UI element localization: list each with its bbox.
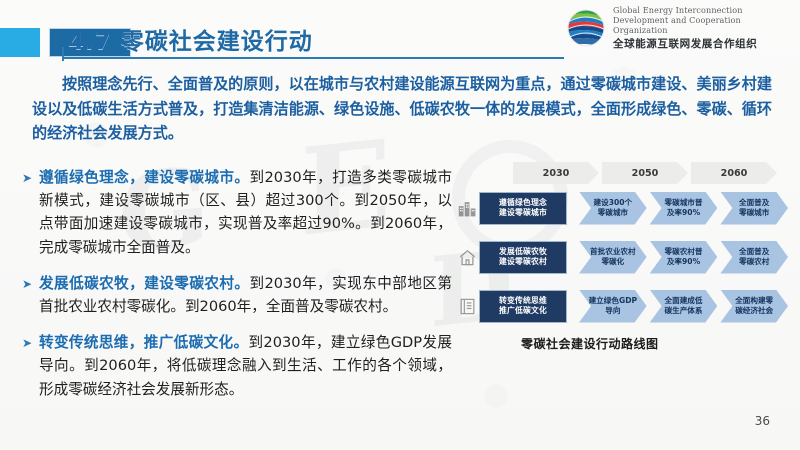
roadmap-row-label: 发展低碳农牧 建设零碳农村 — [479, 241, 567, 274]
roadmap-step-line1: 建设300个 — [594, 198, 633, 208]
roadmap-step: 全面建成低 碳生产体系 — [650, 290, 718, 323]
roadmap-step-line1: 零碳城市普 — [665, 198, 703, 208]
roadmap-step-line2: 碳生产体系 — [665, 306, 703, 316]
roadmap-step: 建立绿色GDP 导向 — [579, 290, 647, 323]
roadmap-row-label: 转变传统思维 推广低碳文化 — [479, 290, 567, 323]
roadmap-step: 建设300个 零碳城市 — [579, 192, 647, 225]
list-item: ➤ 遵循绿色理念，建设零碳城市。到2030年，打造多类零碳城市新模式，建设零碳城… — [22, 166, 452, 259]
roadmap-row-label-line1: 转变传统思维 — [499, 296, 547, 307]
roadmap-step-line1: 建立绿色GDP — [589, 296, 637, 306]
year-chevron: 2060 — [691, 162, 777, 184]
roadmap-step-line1: 全面普及 — [739, 198, 769, 208]
page-number: 36 — [755, 414, 770, 428]
roadmap-step: 全面构建零 碳经济社会 — [720, 290, 788, 323]
intro-paragraph: 按照理念先行、全面普及的原则，以在城市与农村建设能源互联网为重点，通过零碳城市建… — [32, 72, 772, 146]
book-icon — [455, 293, 479, 319]
bullet-arrow-icon: ➤ — [22, 166, 39, 259]
house-icon — [455, 244, 479, 270]
roadmap-step: 全面普及 零碳城市 — [720, 192, 788, 225]
list-item: ➤ 发展低碳农牧，建设零碳农村。到2030年，实现东中部地区第首批农业农村零碳化… — [22, 272, 452, 318]
bullet-list: ➤ 遵循绿色理念，建设零碳城市。到2030年，打造多类零碳城市新模式，建设零碳城… — [22, 166, 452, 414]
roadmap-row-label-line2: 推广低碳文化 — [499, 306, 547, 317]
roadmap-step: 零碳农村普 及率90% — [650, 241, 718, 274]
roadmap-row-label-line2: 建设零碳农村 — [499, 257, 547, 268]
roadmap-diagram: 2030 2050 2060 遵循绿色理念 建设 — [455, 162, 791, 352]
roadmap-row-label-line2: 建设零碳城市 — [499, 208, 547, 219]
roadmap-step: 零碳城市普 及率90% — [650, 192, 718, 225]
bullet-arrow-icon: ➤ — [22, 331, 39, 401]
roadmap-row-label-line1: 发展低碳农牧 — [499, 247, 547, 258]
roadmap-step-line2: 零碳化 — [601, 257, 624, 267]
roadmap-row: 转变传统思维 推广低碳文化 建立绿色GDP 导向 全面建成低 碳生产体系 全面构… — [455, 286, 791, 326]
header-accent-cyan-block — [0, 28, 40, 57]
city-buildings-icon — [455, 195, 479, 221]
roadmap-step-line1: 首批农业农村 — [590, 247, 636, 257]
roadmap-step-line1: 全面建成低 — [665, 296, 703, 306]
logo-english-line-1: Global Energy Interconnection — [613, 5, 794, 15]
roadmap-step-line1: 全面构建零 — [735, 296, 773, 306]
roadmap-step-line2: 及率90% — [667, 257, 700, 267]
globe-icon — [566, 8, 606, 48]
roadmap-step-line2: 及率90% — [667, 208, 700, 218]
roadmap-step-line2: 零碳农村 — [739, 257, 769, 267]
header-rule — [64, 57, 564, 59]
logo-english-line-2: Development and Cooperation Organization — [613, 15, 794, 35]
roadmap-year-header: 2030 2050 2060 — [513, 162, 791, 188]
roadmap-row: 遵循绿色理念 建设零碳城市 建设300个 零碳城市 零碳城市普 及率90% 全面… — [455, 188, 791, 228]
year-chevron: 2030 — [513, 162, 599, 184]
roadmap-step-line1: 全面普及 — [739, 247, 769, 257]
list-item: ➤ 转变传统思维，推广低碳文化。到2030年，建立绿色GDP发展导向。到2060… — [22, 331, 452, 401]
roadmap-step-line1: 零碳农村普 — [665, 247, 703, 257]
roadmap-row: 发展低碳农牧 建设零碳农村 首批农业农村 零碳化 零碳农村普 及率90% 全面普… — [455, 237, 791, 277]
roadmap-step-line2: 零碳城市 — [739, 208, 769, 218]
logo-chinese-name: 全球能源互联网发展合作组织 — [613, 36, 794, 51]
roadmap-step: 首批农业农村 零碳化 — [579, 241, 647, 274]
bullet-lead: 发展低碳农牧，建设零碳农村。 — [39, 275, 249, 292]
roadmap-step-line2: 零碳城市 — [598, 208, 628, 218]
organization-logo: Global Energy Interconnection Developmen… — [566, 6, 794, 50]
diagram-caption: 零碳社会建设行动路线图 — [521, 335, 791, 352]
roadmap-step-line2: 导向 — [605, 306, 620, 316]
year-chevron: 2050 — [602, 162, 688, 184]
bullet-lead: 转变传统思维，推广低碳文化。 — [39, 334, 248, 351]
page-title: 4.7 零碳社会建设行动 — [68, 22, 313, 56]
roadmap-row-label-line1: 遵循绿色理念 — [499, 198, 547, 209]
slide-header: 4.7 零碳社会建设行动 — [0, 0, 800, 64]
bullet-arrow-icon: ➤ — [22, 272, 39, 318]
bullet-lead: 遵循绿色理念，建设零碳城市。 — [39, 169, 249, 186]
roadmap-step-line2: 碳经济社会 — [735, 306, 773, 316]
roadmap-row-label: 遵循绿色理念 建设零碳城市 — [479, 192, 567, 225]
roadmap-step: 全面普及 零碳农村 — [720, 241, 788, 274]
